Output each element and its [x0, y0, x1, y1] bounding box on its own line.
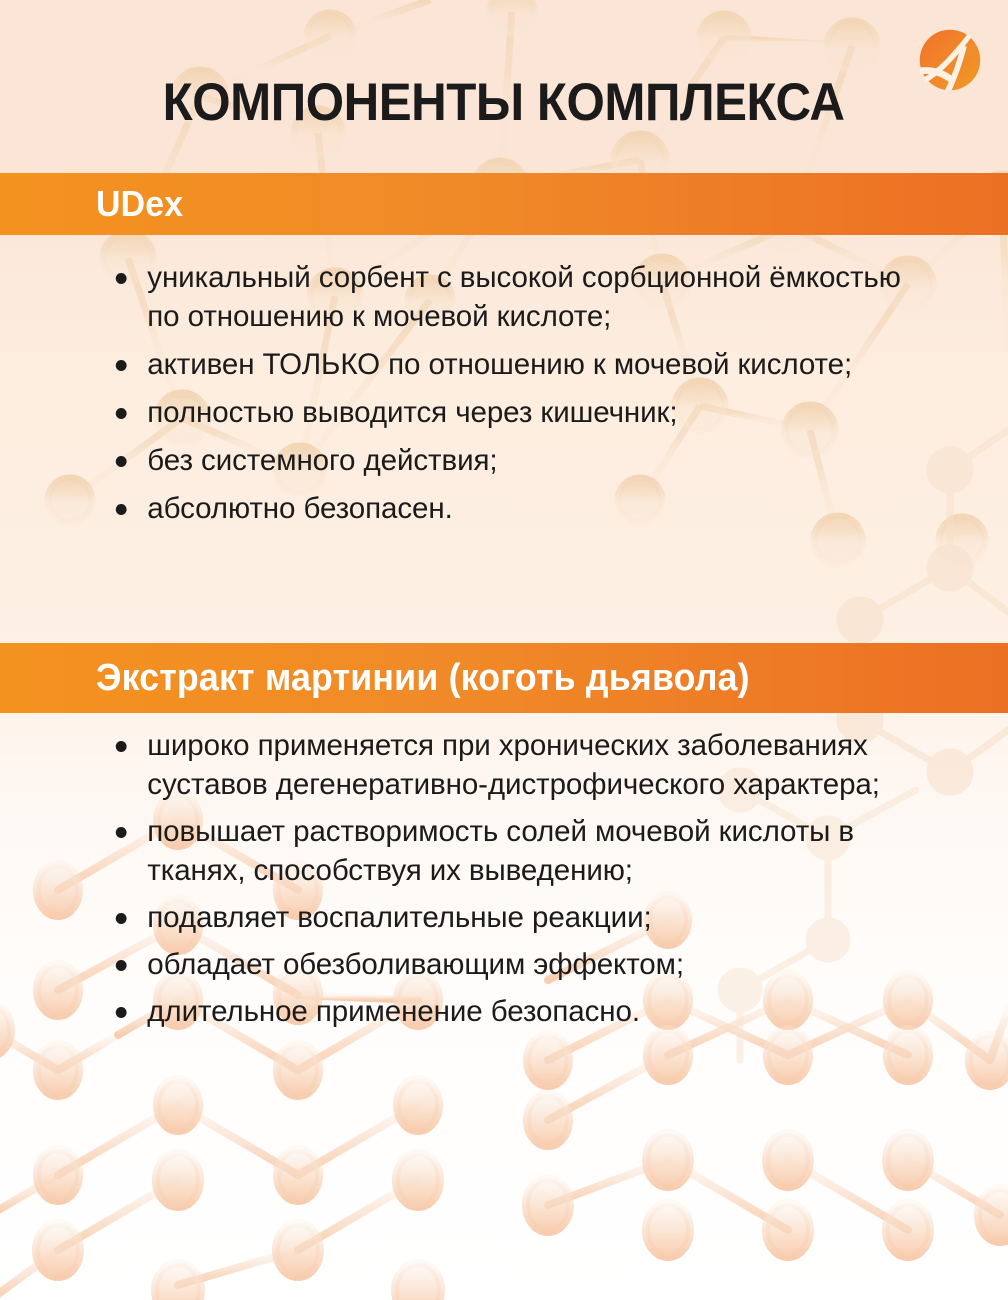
list-item: повышает растворимость солей мочевой кис… [100, 812, 927, 890]
list-item: обладает обезболивающим эффектом; [100, 945, 927, 984]
page-title-container: КОМПОНЕНТЫ КОМПЛЕКСА [0, 76, 1008, 129]
list-item: длительное применение безопасно. [100, 992, 927, 1031]
bullet-dot-icon [116, 960, 127, 971]
list-item-text: абсолютно безопасен. [147, 492, 452, 525]
list-item-text: широко применяется при хронических забол… [147, 729, 880, 801]
list-item: полностью выводится через кишечник; [100, 393, 927, 432]
section-1-bullet-list: уникальный сорбент с высокой сорбционной… [100, 258, 940, 537]
bullet-dot-icon [116, 1007, 127, 1018]
list-item-text: без системного действия; [147, 444, 497, 477]
section-1-title: UDex [96, 183, 183, 225]
page-title: КОМПОНЕНТЫ КОМПЛЕКСА [163, 76, 845, 129]
list-item: активен ТОЛЬКО по отношению к мочевой ки… [100, 345, 927, 384]
bullet-dot-icon [116, 456, 127, 467]
brand-logo-icon [908, 18, 992, 102]
slide-root: КОМПОНЕНТЫ КОМПЛЕКСА UDex уникальный сор… [0, 0, 1008, 1300]
bullet-dot-icon [116, 913, 127, 924]
section-header-udex: UDex [0, 173, 1008, 235]
section-header-martinia: Экстракт мартинии (коготь дьявола) [0, 643, 1008, 713]
list-item: подавляет воспалительные реакции; [100, 898, 927, 937]
section-2-title: Экстракт мартинии (коготь дьявола) [96, 657, 750, 700]
bullet-dot-icon [116, 360, 127, 371]
list-item: абсолютно безопасен. [100, 489, 927, 528]
bullet-dot-icon [116, 827, 127, 838]
section-2-bullet-list: широко применяется при хронических забол… [100, 726, 940, 1039]
list-item: уникальный сорбент с высокой сорбционной… [100, 258, 927, 336]
list-item-text: обладает обезболивающим эффектом; [147, 948, 684, 981]
bullet-dot-icon [116, 741, 127, 752]
bullet-dot-icon [116, 408, 127, 419]
list-item-text: активен ТОЛЬКО по отношению к мочевой ки… [147, 348, 852, 381]
list-item: широко применяется при хронических забол… [100, 726, 927, 804]
list-item: без системного действия; [100, 441, 927, 480]
list-item-text: полностью выводится через кишечник; [147, 396, 677, 429]
bullet-dot-icon [116, 504, 127, 515]
list-item-text: повышает растворимость солей мочевой кис… [147, 815, 854, 887]
list-item-text: подавляет воспалительные реакции; [147, 901, 651, 934]
list-item-text: уникальный сорбент с высокой сорбционной… [147, 261, 901, 333]
list-item-text: длительное применение безопасно. [147, 995, 640, 1028]
bullet-dot-icon [116, 273, 127, 284]
